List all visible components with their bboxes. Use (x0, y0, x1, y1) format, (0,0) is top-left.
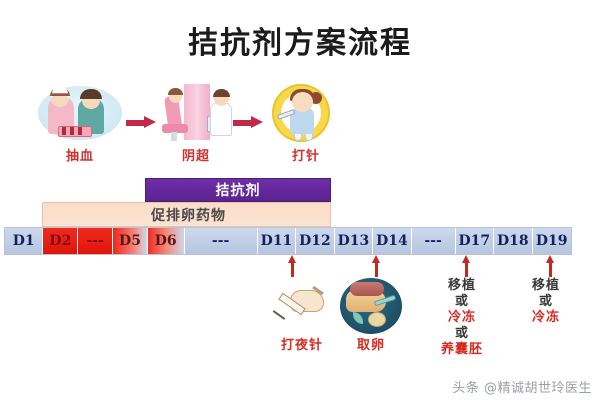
note-line: 冷冻 (516, 310, 576, 326)
note-egg-retrieval: 取卵 (341, 338, 401, 354)
doctor-hair (213, 89, 230, 97)
process-steps-row: 抽血 阴超 (20, 82, 350, 170)
timeline-cell-d19[interactable]: D19 (533, 228, 571, 254)
marker-arrow-d12 (288, 255, 297, 277)
timeline-cell-gap2[interactable]: --- (185, 228, 258, 254)
egg-shape (368, 312, 386, 327)
patient-hair (168, 88, 183, 95)
timeline-cell-d18[interactable]: D18 (494, 228, 532, 254)
timeline-cell-d6[interactable]: D6 (148, 228, 185, 254)
syringe-needle (273, 310, 286, 320)
step-blood-draw: 抽血 (34, 82, 126, 164)
step-ultrasound: 阴超 (150, 82, 242, 164)
marker-arrow-d17 (462, 255, 471, 277)
bar-antagonist: 拮抗剂 (145, 178, 331, 202)
step-label-injection: 打针 (260, 145, 352, 164)
trigger-shot-illustration (270, 282, 334, 330)
bar-antagonist-label: 拮抗剂 (216, 180, 261, 200)
timeline-cell-d2[interactable]: D2 (43, 228, 78, 254)
doctor-coat (210, 102, 232, 136)
exam-chair-leg (171, 132, 177, 141)
leaf-accent (353, 312, 363, 324)
step-label-ultrasound: 阴超 (150, 145, 242, 164)
note-line: 冷冻 (432, 310, 492, 326)
day-timeline: D1 D2 --- D5 D6 --- D11 D12 D13 D14 --- … (4, 227, 572, 255)
note-line: 移植 (516, 278, 576, 294)
ultrasound-illustration (150, 82, 242, 144)
timeline-cell-d13[interactable]: D13 (335, 228, 373, 254)
blood-draw-illustration (34, 82, 126, 144)
timeline-cell-d1[interactable]: D1 (5, 228, 43, 254)
step-injection: 打针 (260, 82, 352, 164)
note-transfer-day17: 移植 或 冷冻 或 养囊胚 (432, 278, 492, 358)
timeline-cell-d5[interactable]: D5 (113, 228, 148, 254)
timeline-cell-gap3[interactable]: --- (412, 228, 456, 254)
nurse-head (292, 92, 313, 112)
marker-arrow-d19 (546, 255, 555, 277)
step-label-blood-draw: 抽血 (34, 145, 126, 164)
blood-tube (62, 127, 66, 135)
note-transfer-day19: 移植 或 冷冻 (516, 278, 576, 326)
uterus-shape (350, 282, 384, 296)
infographic-canvas: 拮抗剂方案流程 抽血 (0, 0, 600, 400)
note-line: 取卵 (341, 338, 401, 354)
note-line: 养囊胚 (432, 342, 492, 358)
marker-arrow-d14 (372, 255, 381, 277)
bar-stimulation-label: 促排卵药物 (151, 205, 226, 225)
timeline-cell-d12[interactable]: D12 (296, 228, 334, 254)
note-line: 或 (516, 294, 576, 310)
arrow-right-icon (233, 118, 263, 127)
page-title: 拮抗剂方案流程 (0, 18, 600, 62)
note-line: 移植 (432, 278, 492, 294)
note-line: 打夜针 (262, 338, 342, 354)
bar-stimulation-drugs: 促排卵药物 (42, 202, 331, 227)
note-trigger-shot: 打夜针 (262, 338, 342, 354)
protocol-timeline-chart: 拮抗剂 促排卵药物 D1 D2 --- D5 D6 --- D11 D12 D1… (0, 176, 600, 256)
injection-illustration (260, 82, 352, 144)
timeline-cell-d17[interactable]: D17 (456, 228, 494, 254)
timeline-cell-d14[interactable]: D14 (373, 228, 411, 254)
blood-tube (78, 127, 82, 135)
timeline-cell-gap1[interactable]: --- (78, 228, 113, 254)
blood-tube (70, 127, 74, 135)
timeline-cell-d11[interactable]: D11 (258, 228, 296, 254)
retrieval-scene (340, 278, 402, 334)
watermark: 头条 @精诚胡世玲医生 (452, 377, 592, 396)
note-line: 或 (432, 326, 492, 342)
note-line: 或 (432, 294, 492, 310)
egg-retrieval-illustration (340, 278, 402, 334)
